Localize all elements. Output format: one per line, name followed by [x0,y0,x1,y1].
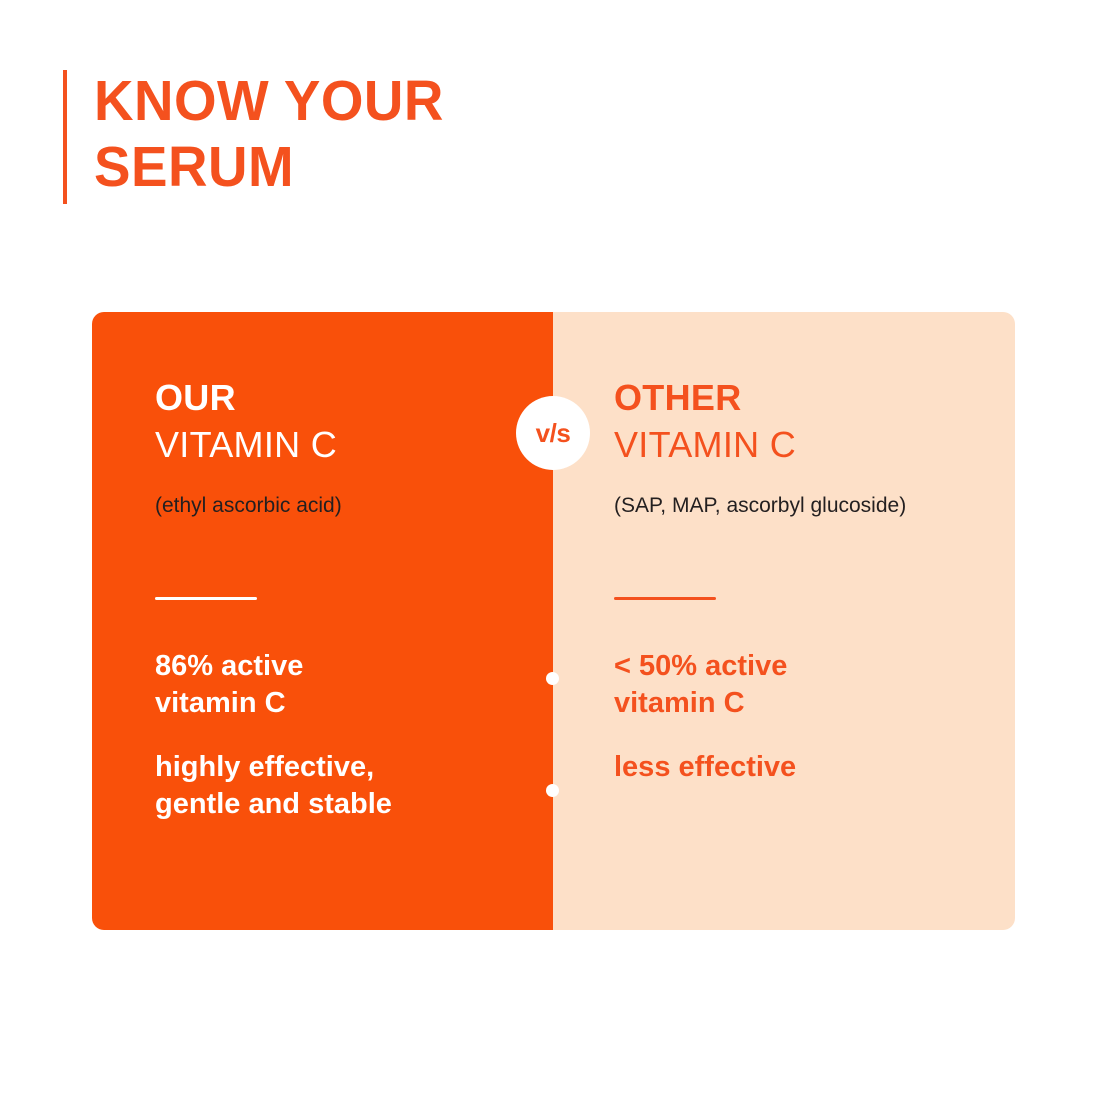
other-title-strong: OTHER [614,378,742,418]
other-subtitle: (SAP, MAP, ascorbyl glucoside) [614,493,906,519]
other-divider-rule [614,597,716,600]
comparison-panel-other: OTHER VITAMIN C (SAP, MAP, ascorbyl gluc… [553,312,1015,930]
other-title-light: VITAMIN C [614,424,796,466]
heading-accent-bar [63,70,67,204]
divider-dot-2 [546,784,559,797]
our-title-strong: OUR [155,378,236,418]
our-title-light: VITAMIN C [155,424,337,466]
page-heading: KNOW YOUR SERUM [63,68,458,204]
other-bullet-list: < 50% active vitamin C less effective [614,648,995,786]
panel-content-our: OUR VITAMIN C (ethyl ascorbic acid) 86% … [155,312,533,930]
other-bullet-item-1: < 50% active vitamin C [614,648,995,722]
our-divider-rule [155,597,257,600]
versus-badge: v/s [516,396,590,470]
comparison-panel-our: OUR VITAMIN C (ethyl ascorbic acid) 86% … [92,312,553,930]
our-subtitle: (ethyl ascorbic acid) [155,493,342,519]
other-bullet-item-2: less effective [614,749,995,786]
our-bullet-list: 86% active vitamin C highly effective, g… [155,648,533,823]
panel-content-other: OTHER VITAMIN C (SAP, MAP, ascorbyl gluc… [614,312,995,930]
page-title: KNOW YOUR SERUM [94,68,444,200]
our-bullet-item-2: highly effective, gentle and stable [155,749,533,823]
divider-dot-1 [546,672,559,685]
our-bullet-item-1: 86% active vitamin C [155,648,533,722]
versus-label: v/s [536,420,571,446]
